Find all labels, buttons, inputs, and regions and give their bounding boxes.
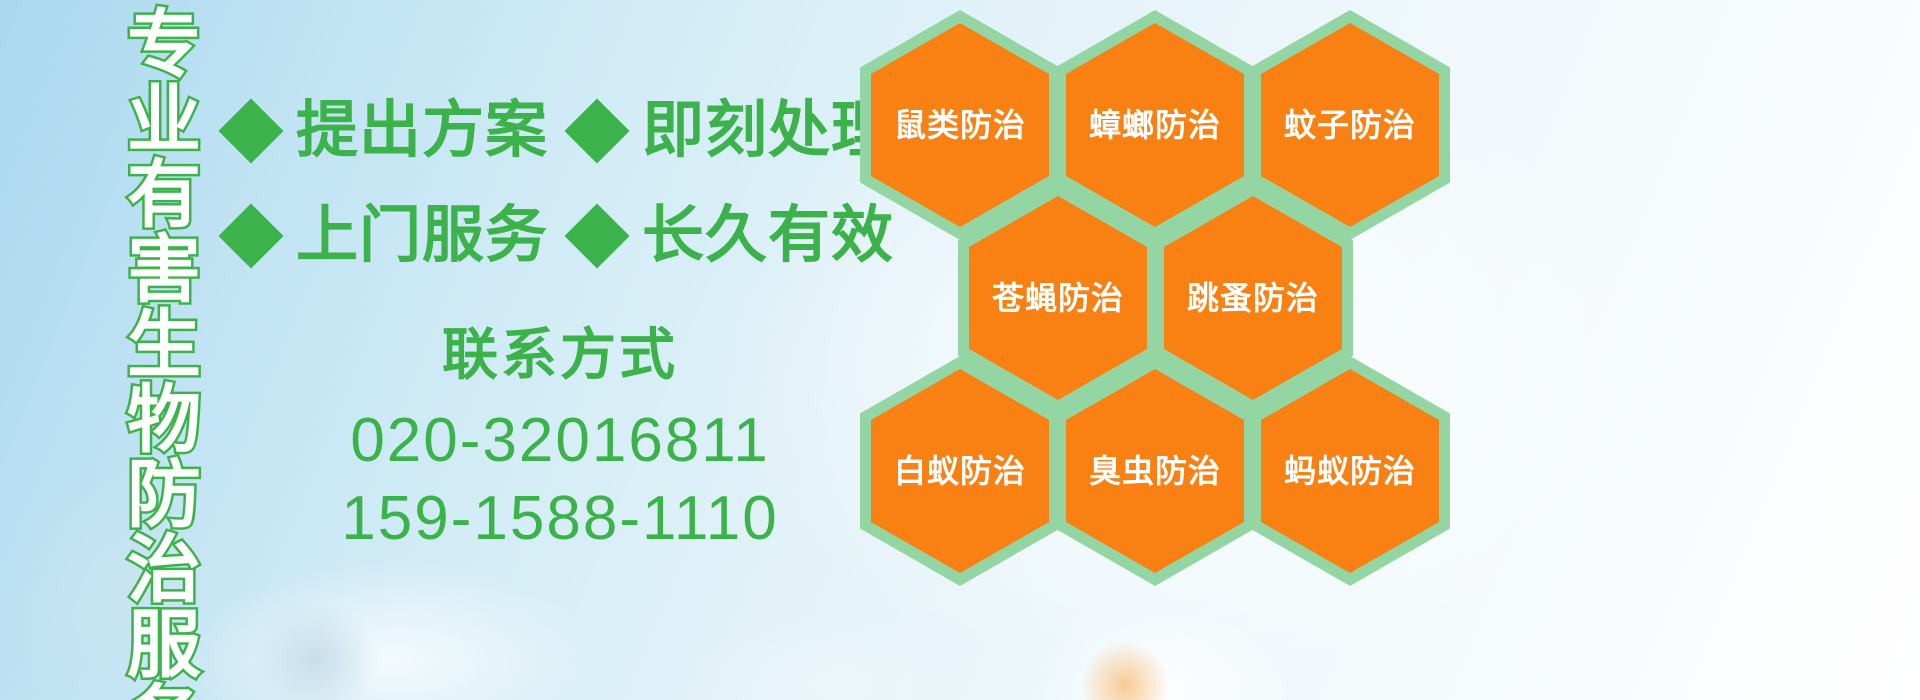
service-hex-inner: 蚊子防治 <box>1261 23 1439 227</box>
vertical-headline-char: 业 <box>127 83 201 157</box>
background-blur-spot-lower-right <box>1030 610 1290 700</box>
feature-label: 上门服务 <box>296 205 548 267</box>
service-hex-inner: 蚂蚁防治 <box>1261 369 1439 573</box>
service-hex-label: 蚊子防治 <box>1284 108 1416 142</box>
vertical-headline-char: 务 <box>127 683 201 700</box>
vertical-headline-char: 治 <box>127 533 201 607</box>
background-blur-spot-small-left <box>250 600 380 700</box>
vertical-headline-char: 害 <box>127 233 201 307</box>
diamond-bullet-icon <box>564 203 629 268</box>
service-hex-label: 苍蝇防治 <box>992 281 1124 315</box>
background-blur-spot-lower-center <box>680 615 980 700</box>
feature-item: 即刻处理 <box>574 100 894 162</box>
background-blur-spot-lower-left <box>180 560 600 700</box>
vertical-headline-char: 物 <box>127 383 201 457</box>
service-hex-inner: 跳蚤防治 <box>1164 196 1342 400</box>
service-hex-inner: 蟑螂防治 <box>1066 23 1244 227</box>
service-hex-label: 蟑螂防治 <box>1089 108 1221 142</box>
feature-item: 提出方案 <box>228 100 548 162</box>
diamond-bullet-icon <box>218 98 283 163</box>
feature-label: 提出方案 <box>296 100 548 162</box>
pest-control-banner: 专 业 有 害 生 物 防 治 服 务 提出方案 即刻处理 上门服务 <box>0 0 1920 700</box>
phone-number-mobile[interactable]: 159-1588-1110 <box>300 480 820 558</box>
service-hex-label: 蚂蚁防治 <box>1284 454 1416 488</box>
service-hex-inner: 苍蝇防治 <box>969 196 1147 400</box>
background-blur-spot-orange <box>1080 640 1170 700</box>
vertical-headline-char: 防 <box>127 458 201 532</box>
contact-block: 联系方式 020-32016811 159-1588-1110 <box>300 320 820 558</box>
feature-label: 长久有效 <box>642 205 894 267</box>
vertical-headline-char: 服 <box>127 608 201 682</box>
vertical-headline-char: 专 <box>127 8 201 82</box>
vertical-headline-char: 有 <box>127 158 201 232</box>
diamond-bullet-icon <box>218 203 283 268</box>
service-hex-label: 臭虫防治 <box>1089 454 1221 488</box>
service-hex-label: 跳蚤防治 <box>1187 281 1319 315</box>
service-hex-label: 白蚁防治 <box>894 454 1026 488</box>
service-hex-inner: 白蚁防治 <box>871 369 1049 573</box>
feature-item: 长久有效 <box>574 205 894 267</box>
feature-label: 即刻处理 <box>642 100 894 162</box>
phone-number-landline[interactable]: 020-32016811 <box>300 402 820 480</box>
service-hex-inner: 臭虫防治 <box>1066 369 1244 573</box>
feature-list: 提出方案 即刻处理 上门服务 长久有效 <box>228 78 868 288</box>
service-hex-grid: 鼠类防治 蟑螂防治 蚊子防治 苍蝇防治 跳蚤防治 白蚁防 <box>860 0 1480 565</box>
contact-title: 联系方式 <box>300 320 820 390</box>
service-hex-label: 鼠类防治 <box>894 108 1026 142</box>
service-hex-inner: 鼠类防治 <box>871 23 1049 227</box>
diamond-bullet-icon <box>564 98 629 163</box>
feature-row: 提出方案 即刻处理 <box>228 78 868 183</box>
vertical-headline-char: 生 <box>127 308 201 382</box>
vertical-headline: 专 业 有 害 生 物 防 治 服 务 <box>112 8 216 680</box>
feature-row: 上门服务 长久有效 <box>228 183 868 288</box>
feature-item: 上门服务 <box>228 205 548 267</box>
